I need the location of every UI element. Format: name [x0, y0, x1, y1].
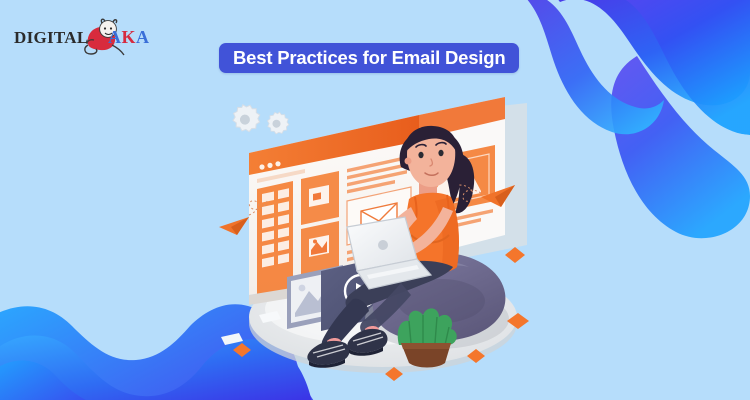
logo-aka-mark: AKA — [108, 27, 150, 48]
decorative-diamond — [233, 343, 251, 357]
logo-aka-letter-a2: A — [136, 27, 150, 47]
eye — [418, 152, 423, 158]
gear-icon-small — [265, 110, 291, 137]
logo-aka-letter-k: K — [122, 27, 137, 47]
blob-top-right-back — [580, 0, 750, 53]
blob-bottom-left-front — [0, 360, 120, 400]
blob-top-right-front — [600, 0, 750, 135]
hero-illustration — [205, 95, 565, 385]
window-dot — [275, 161, 280, 166]
ground-note — [221, 333, 243, 345]
decorative-diamond — [505, 247, 525, 263]
eye — [438, 150, 443, 156]
laptop-logo — [378, 240, 388, 250]
logo-wordmark: DIGITAL — [14, 28, 89, 48]
email-design-banner: DIGITAL AKA Best Practices for Email Des… — [0, 0, 750, 400]
blob-top-right-tail — [611, 56, 750, 238]
gear-icon — [231, 103, 262, 134]
brand-logo[interactable]: DIGITAL AKA — [14, 16, 154, 58]
window-dot — [267, 163, 272, 168]
logo-aka-letter-a1: A — [108, 27, 122, 47]
blob-top-right-main — [552, 0, 750, 105]
page-title-text: Best Practices for Email Design — [233, 49, 505, 68]
page-title: Best Practices for Email Design — [219, 43, 519, 73]
window-dot — [259, 164, 264, 169]
